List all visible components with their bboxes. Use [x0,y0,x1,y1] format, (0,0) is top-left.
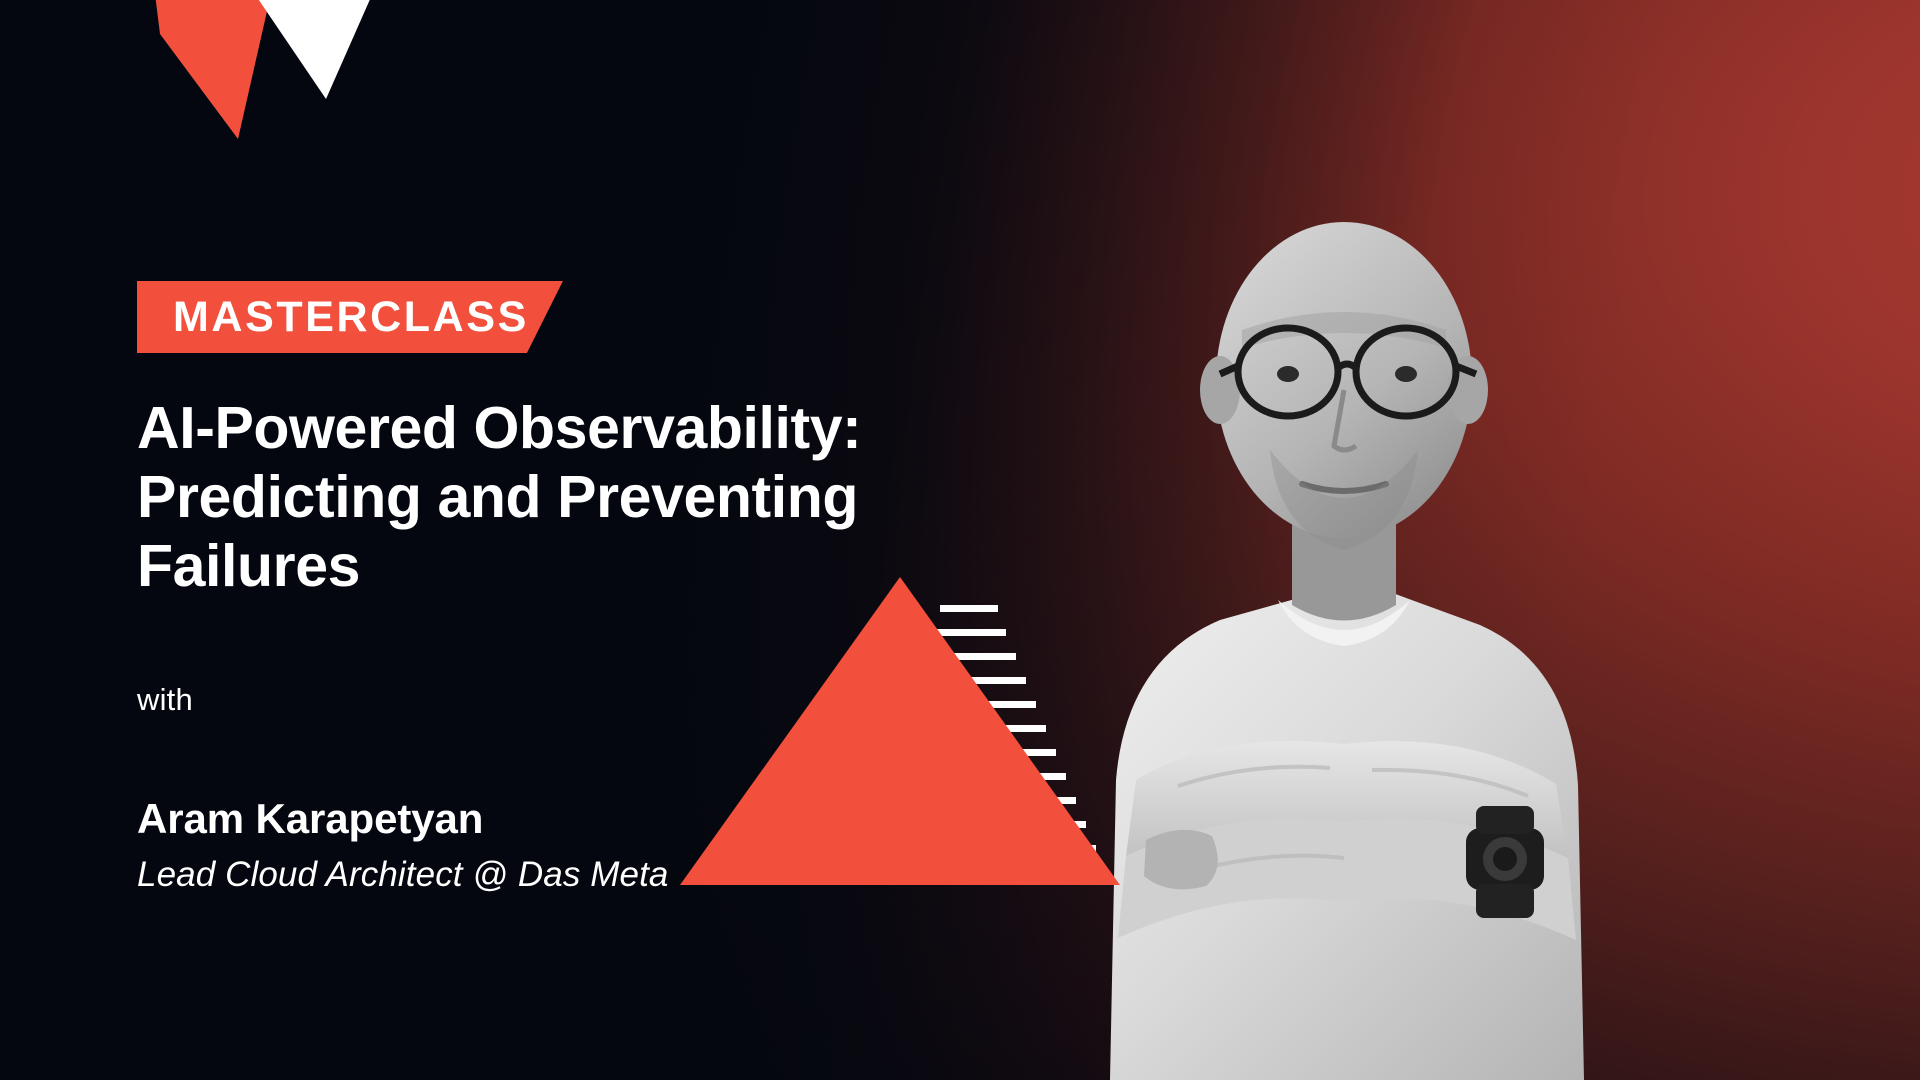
speaker-name: Aram Karapetyan [137,795,483,843]
decorative-stripes-and-triangle [640,555,1120,885]
wristwatch-icon [1466,806,1544,918]
speaker-role: Lead Cloud Architect @ Das Meta [137,855,668,895]
masterclass-badge: MASTERCLASS [137,281,563,353]
das-meta-logo-icon[interactable] [140,0,400,144]
red-triangle-icon [680,577,1120,885]
masterclass-badge-label: MASTERCLASS [173,296,529,339]
title-line-2: Predicting and Preventing [137,463,1037,532]
title-line-1: AI-Powered Observability: [137,394,1037,463]
masterclass-banner: MASTERCLASS AI-Powered Observability: Pr… [0,0,1920,1080]
with-label: with [137,682,193,718]
